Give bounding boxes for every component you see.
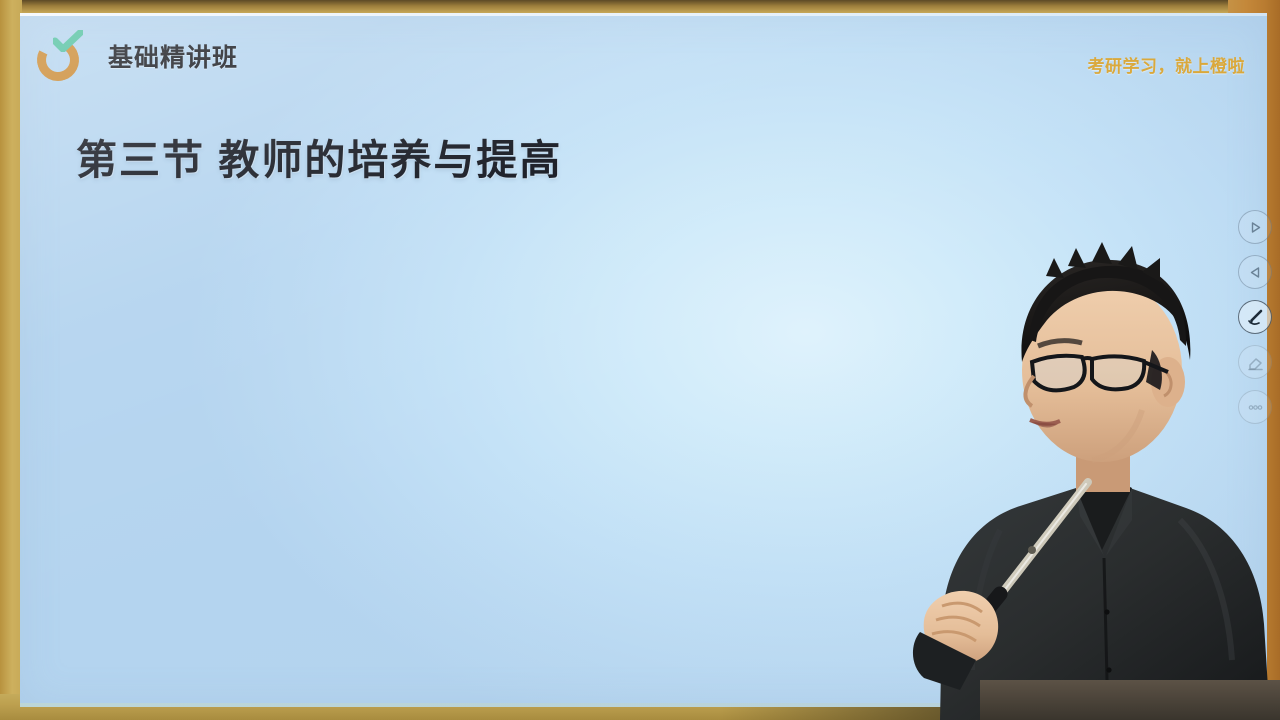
course-title: 基础精讲班	[108, 38, 238, 74]
prev-page-button[interactable]	[1238, 255, 1272, 289]
presenter-head	[1021, 242, 1190, 462]
presenter-figure	[880, 220, 1280, 720]
logo-checkmark-icon	[53, 30, 83, 52]
slide-header: 基础精讲班 考研学习，就上橙啦	[20, 13, 1267, 105]
play-triangle-left-icon	[1248, 265, 1263, 280]
next-page-button[interactable]	[1238, 210, 1272, 244]
pen-icon	[1246, 308, 1265, 327]
wall-left-edge	[0, 0, 22, 720]
more-dots-icon	[1247, 399, 1264, 416]
slide-toolbar[interactable]	[1238, 210, 1272, 424]
more-options-button[interactable]	[1238, 390, 1272, 424]
lecture-video-frame: 基础精讲班 考研学习，就上橙啦 第三节 教师的培养与提高	[0, 0, 1280, 720]
brand-block: 基础精讲班	[32, 29, 238, 83]
desk-edge	[980, 680, 1280, 720]
slide-title: 第三节 教师的培养与提高	[76, 126, 562, 186]
chengla-logo-icon	[32, 29, 86, 83]
brand-tagline: 考研学习，就上橙啦	[1088, 52, 1246, 77]
pen-tool-button[interactable]	[1238, 300, 1272, 334]
eraser-tool-button[interactable]	[1238, 345, 1272, 379]
eraser-icon	[1247, 354, 1264, 371]
play-triangle-right-icon	[1248, 220, 1263, 235]
